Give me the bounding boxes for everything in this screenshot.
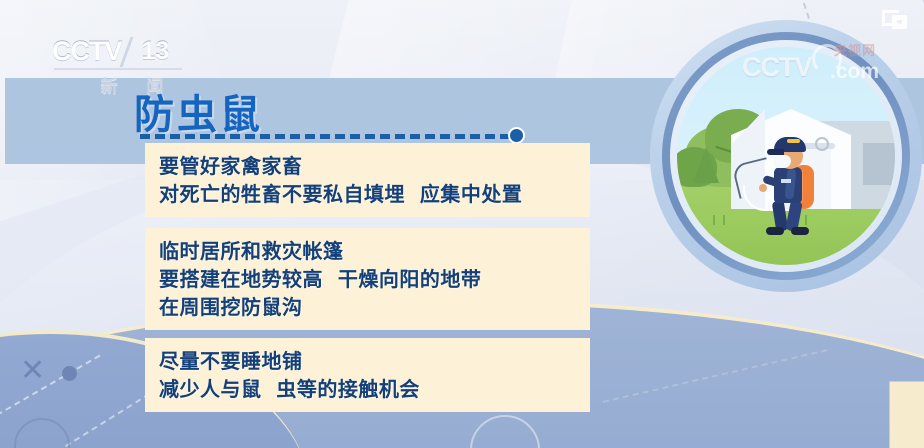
tip-card-line: 在周围挖防鼠沟: [159, 293, 590, 321]
tip-card: 尽量不要睡地铺 减少人与鼠 虫等的接触机会: [145, 338, 590, 412]
tip-card-line: 临时居所和救灾帐篷: [159, 237, 590, 265]
tip-card-line: 减少人与鼠 虫等的接触机会: [159, 375, 590, 403]
tip-card-line: 要管好家禽家畜: [159, 152, 590, 180]
frame-corner-icon: [882, 10, 908, 32]
worker-shoe: [791, 227, 809, 235]
illustration-scene: [677, 47, 895, 265]
worker-shoe: [766, 227, 784, 235]
tip-card: 要管好家禽家畜 对死亡的牲畜不要私自填埋 应集中处置: [145, 143, 590, 217]
tip-card: 临时居所和救灾帐篷 要搭建在地势较高 干燥向阳的地带 在周围挖防鼠沟: [145, 228, 590, 330]
broadcast-graphic: ✕ CCTV 13 新 闻 防虫鼠 要管好家禽家畜 对死亡的牲畜不要私自填埋 应…: [0, 0, 924, 448]
tent-secondary-panel: [863, 143, 895, 185]
illustration-circle: [650, 20, 922, 292]
tip-card-line: 尽量不要睡地铺: [159, 347, 590, 375]
grass-tuft-icon: [713, 215, 725, 225]
worker-cap-stripe: [787, 139, 800, 143]
logo-channel-number: 13: [142, 37, 170, 66]
cctv13-logo: CCTV 13 新 闻: [52, 36, 202, 88]
tip-card-line: 对死亡的牲畜不要私自填埋 应集中处置: [159, 180, 590, 208]
logo-underline: [54, 68, 182, 70]
logo-cctv-text: CCTV: [52, 36, 122, 67]
worker-cap-brim: [767, 149, 784, 155]
title-end-dot: [508, 127, 525, 144]
frame-corner-icon-part: [895, 18, 904, 26]
worker-figure: [761, 131, 825, 237]
page-title: 防虫鼠: [134, 82, 263, 140]
worker-hand: [759, 184, 767, 192]
tip-card-line: 要搭建在地势较高 干燥向阳的地带: [159, 265, 590, 293]
title-dashed-rule: [140, 134, 510, 139]
worker-badge: [781, 179, 791, 183]
decorative-cross-icon: ✕: [20, 358, 46, 384]
pine-tree-icon: [693, 147, 719, 183]
face-mask-icon: [774, 155, 791, 168]
decorative-dot: [62, 366, 77, 381]
